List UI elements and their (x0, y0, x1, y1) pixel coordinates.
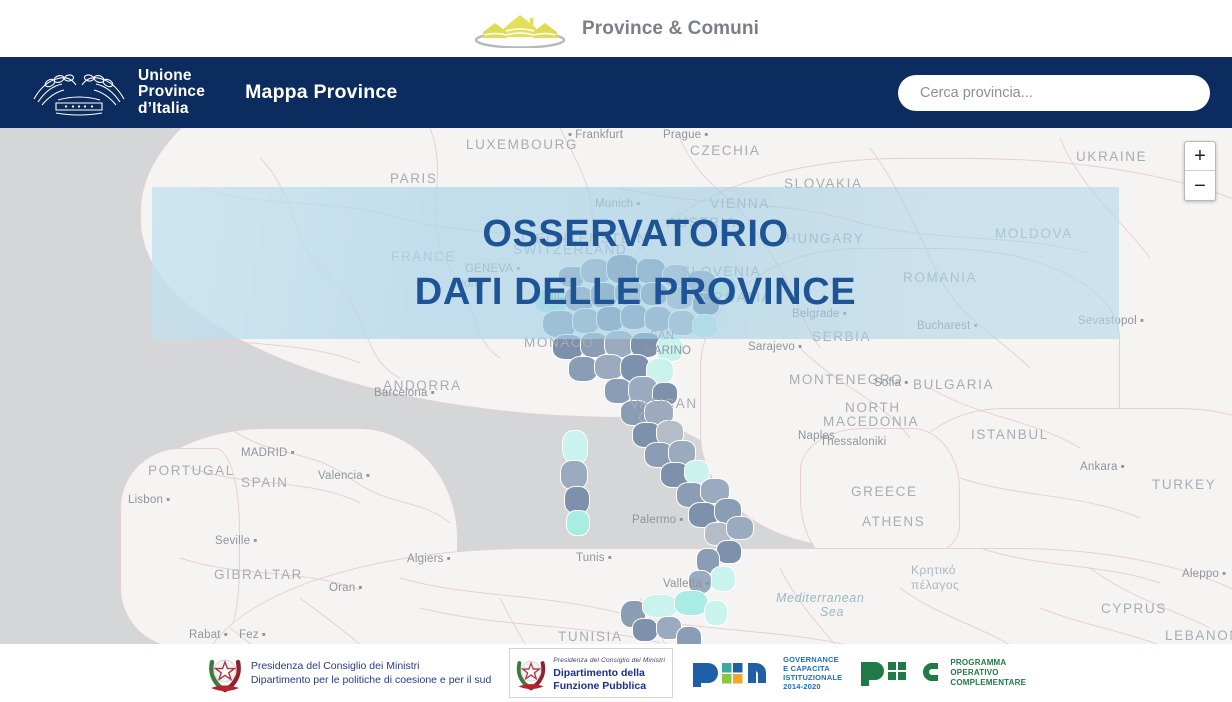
footer-pcm-line2: Dipartimento per le politiche di coesion… (251, 673, 491, 687)
pon-text-line4: 2014-2020 (783, 682, 842, 691)
province-shape[interactable] (562, 430, 588, 464)
unione-province-italia-emblem (26, 67, 132, 119)
province-shape[interactable] (566, 510, 590, 536)
app-header: Unione Province d’Italia Mappa Province (0, 57, 1232, 128)
map-zoom-controls[interactable]: + − (1184, 141, 1216, 201)
province-shape[interactable] (726, 516, 754, 540)
search-box[interactable] (898, 75, 1210, 111)
province-shape[interactable] (710, 566, 736, 592)
page-title: Mappa Province (245, 81, 397, 104)
footer-logo-poc[interactable]: PROGRAMMA OPERATIVO COMPLEMENTARE (860, 658, 1026, 688)
app-root: Province & Comuni (0, 0, 1232, 702)
footer-dfp-line1: Dipartimento della (553, 667, 665, 680)
footer-pcm-text: Presidenza del Consiglio dei Ministri Di… (251, 659, 491, 687)
poc-text-line2: OPERATIVO (950, 668, 1026, 678)
footer-logo-pcm[interactable]: Presidenza del Consiglio dei Ministri Di… (206, 650, 491, 696)
province-shape[interactable] (632, 618, 658, 642)
search-input[interactable] (898, 75, 1210, 111)
footer-dfp-sup: Presidenza del Consiglio dei Ministri (553, 654, 665, 667)
poc-logo-text: PROGRAMMA OPERATIVO COMPLEMENTARE (950, 658, 1026, 688)
footer-dfp-line2: Funzione Pubblica (553, 680, 665, 693)
upi-wordmark-line1: Unione (138, 68, 205, 85)
upi-wordmark-line2: Province (138, 84, 205, 101)
hero-title-line2: DATI DELLE PROVINCE (415, 263, 856, 321)
pon-text-line2: E CAPACITA (783, 664, 842, 673)
footer-dfp-text: Presidenza del Consiglio dei Ministri Di… (553, 654, 665, 693)
top-brand-title: Province & Comuni (582, 18, 759, 40)
province-shape[interactable] (704, 600, 728, 626)
pon-text-line1: GOVERNANCE (783, 655, 842, 664)
hero-title-line1: OSSERVATORIO (482, 205, 788, 263)
pon-text-line3: ISTITUZIONALE (783, 673, 842, 682)
pon-logo-mark (691, 657, 777, 689)
page-footer: Presidenza del Consiglio dei Ministri Di… (0, 644, 1232, 702)
footer-logo-pon[interactable]: GOVERNANCE E CAPACITA ISTITUZIONALE 2014… (691, 655, 842, 692)
province-shape[interactable] (676, 626, 702, 644)
zoom-out-button[interactable]: − (1185, 171, 1215, 200)
zoom-in-button[interactable]: + (1185, 142, 1215, 171)
upi-wordmark: Unione Province d’Italia (138, 68, 205, 118)
upi-wordmark-line3: d’Italia (138, 101, 205, 118)
repubblica-italiana-emblem (514, 652, 548, 694)
footer-logo-dfp[interactable]: Presidenza del Consiglio dei Ministri Di… (509, 648, 673, 698)
pon-logo-text: GOVERNANCE E CAPACITA ISTITUZIONALE 2014… (783, 655, 842, 692)
repubblica-italiana-emblem (206, 650, 244, 696)
poc-text-line1: PROGRAMMA (950, 658, 1026, 668)
hero-overlay-banner: OSSERVATORIO DATI DELLE PROVINCE (152, 187, 1119, 339)
province-comuni-logo (473, 10, 568, 48)
poc-logo-mark (860, 658, 944, 688)
poc-text-line3: COMPLEMENTARE (950, 678, 1026, 688)
province-shape[interactable] (674, 590, 708, 616)
province-shape[interactable] (642, 594, 678, 618)
footer-pcm-line1: Presidenza del Consiglio dei Ministri (251, 659, 491, 673)
top-brand-bar: Province & Comuni (0, 0, 1232, 57)
